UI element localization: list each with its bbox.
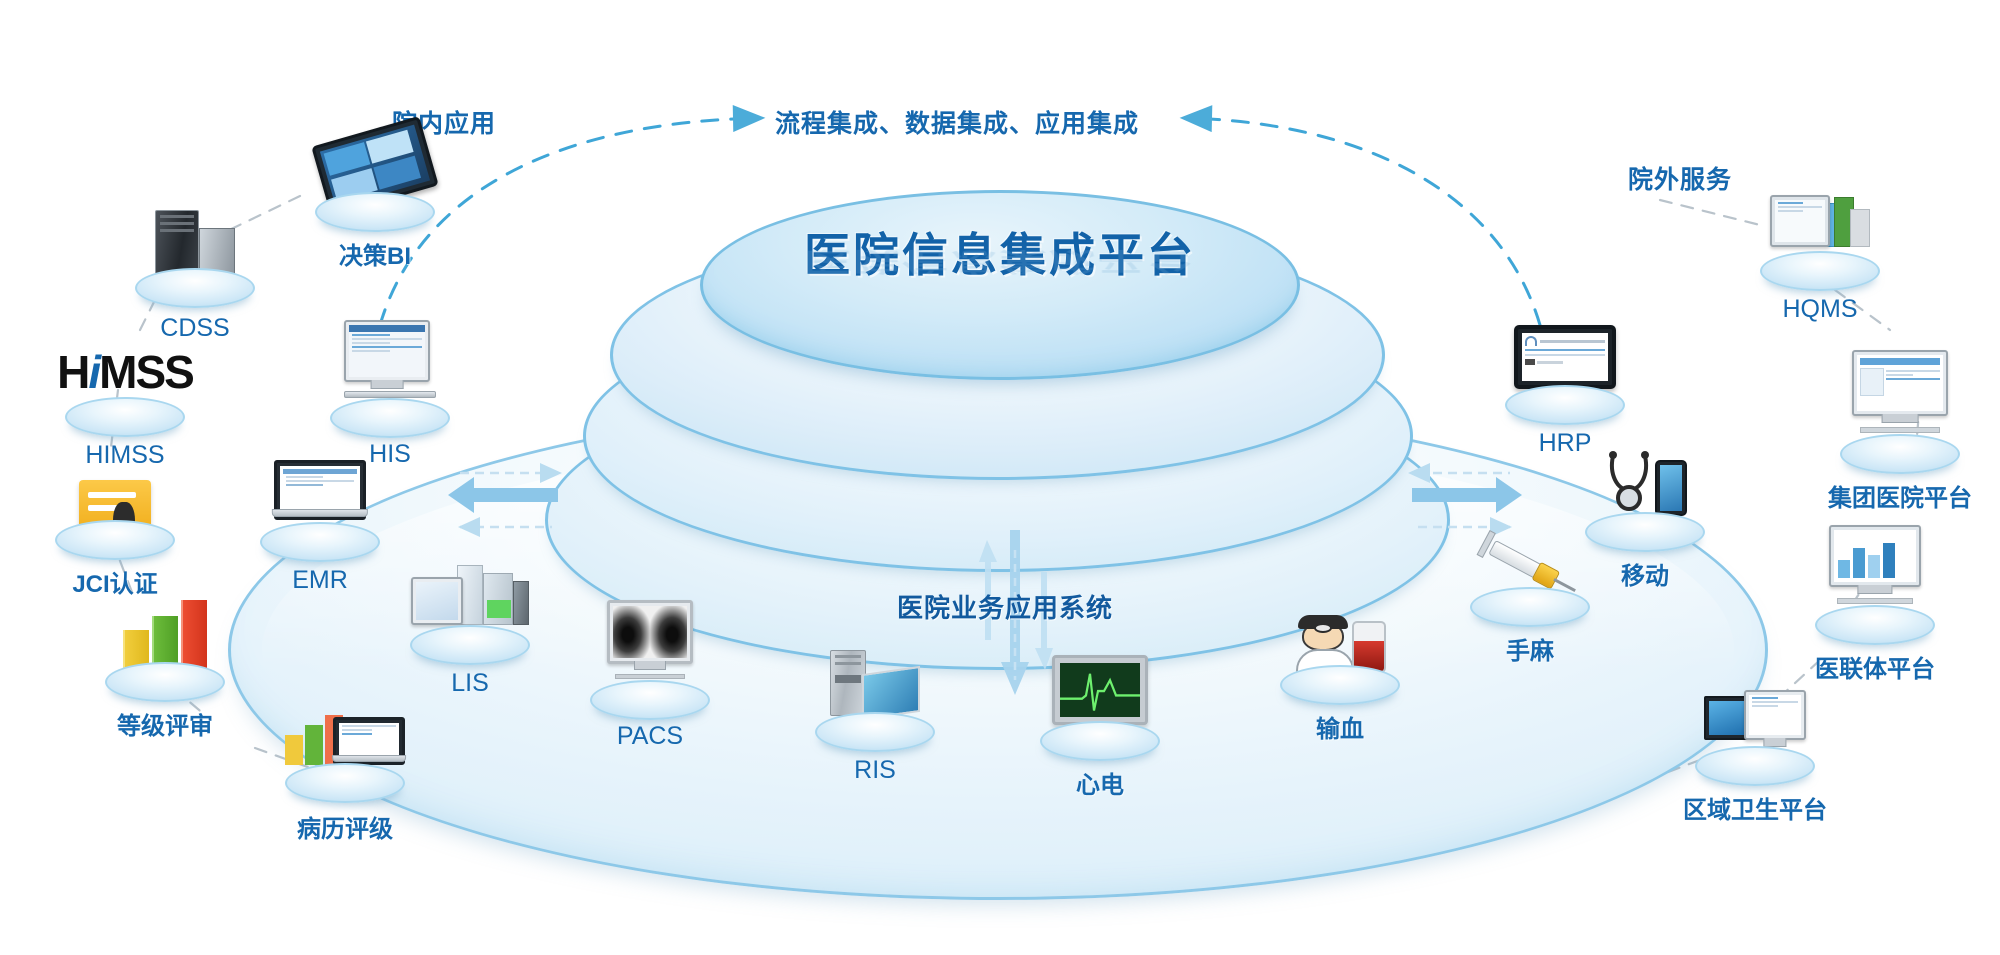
pedestal: [260, 522, 380, 562]
node-label-hqms: HQMS: [1783, 295, 1858, 324]
node-blood-transfusion[interactable]: 输血: [1250, 605, 1430, 755]
tower-monitor-icon: [830, 650, 920, 716]
node-label-mobile: 移动: [1621, 556, 1669, 591]
node-label-alliance-platform: 医联体平台: [1815, 649, 1935, 684]
node-ecg[interactable]: 心电: [1015, 655, 1185, 805]
node-group-hospital-platform[interactable]: 集团医院平台: [1805, 350, 1995, 500]
node-grade-review[interactable]: 等级评审: [70, 600, 260, 750]
left-exchange-arrows: [440, 455, 570, 565]
node-label-record-rating: 病历评级: [297, 809, 393, 844]
page-title: 医院信息集成平台: [703, 219, 1297, 285]
callout-external-services: 院外服务: [1628, 160, 1732, 196]
node-label-decision-bi: 决策BI: [339, 236, 411, 271]
node-label-grade-review: 等级评审: [117, 706, 213, 741]
node-label-group-platform: 集团医院平台: [1828, 478, 1972, 513]
node-label-jci: JCI认证: [72, 564, 157, 599]
pedestal: [65, 397, 185, 437]
pedestal: [285, 763, 405, 803]
desktop-dual-icon: [1704, 690, 1806, 740]
pedestal: [410, 625, 530, 665]
node-lis[interactable]: LIS: [385, 565, 555, 715]
platform-top-disc[interactable]: 医院信息集成平台 医院信息集成平台: [700, 190, 1300, 380]
node-jci[interactable]: JCI认证: [30, 480, 200, 620]
node-mobile[interactable]: 移动: [1555, 450, 1735, 600]
node-regional-health-platform[interactable]: 区域卫生平台: [1655, 690, 1855, 840]
node-hqms[interactable]: HQMS: [1730, 195, 1910, 345]
pedestal: [1815, 605, 1935, 645]
himss-wordmark: HiMSS: [57, 349, 193, 395]
callout-integration: 流程集成、数据集成、应用集成: [775, 104, 1139, 140]
node-cdss[interactable]: CDSS: [110, 210, 280, 345]
himss-logo-icon: HiMSS: [57, 349, 193, 395]
pedestal: [815, 712, 935, 752]
desktop-monitor-icon: [344, 320, 436, 398]
tablet-report-icon: [1514, 325, 1616, 389]
ecg-monitor-icon: [1052, 655, 1148, 725]
node-his[interactable]: HIS: [305, 320, 475, 470]
pedestal: [1040, 721, 1160, 761]
pedestal: [55, 520, 175, 560]
pedestal: [315, 192, 435, 232]
node-label-anesthesia: 手麻: [1506, 631, 1554, 666]
node-label-regional-platform: 区域卫生平台: [1683, 790, 1827, 825]
node-ris[interactable]: RIS: [790, 650, 960, 800]
xray-monitor-icon: [607, 600, 693, 679]
pedestal: [1280, 665, 1400, 705]
node-medical-record-rating[interactable]: 病历评级: [245, 715, 445, 865]
diagram-canvas: 流程集成、数据集成、应用集成 院内应用 院外服务 基础数据中心 临床数据中心 运…: [0, 0, 2000, 955]
node-emr[interactable]: EMR: [230, 460, 410, 610]
chart-laptop-icon: [285, 715, 405, 765]
pedestal: [1505, 385, 1625, 425]
stethoscope-phone-icon: [1603, 450, 1687, 516]
pedestal: [135, 268, 255, 308]
desktop-chart-icon: [1829, 525, 1921, 604]
pedestal: [330, 398, 450, 438]
server-rack-icon: [155, 210, 235, 276]
lab-analyzer-icon: [411, 565, 529, 625]
laptop-icon: [274, 460, 366, 520]
pedestal: [1695, 746, 1815, 786]
node-label-pacs: PACS: [617, 722, 683, 751]
node-label-lis: LIS: [451, 669, 489, 698]
pedestal: [1840, 434, 1960, 474]
blood-bag-doctor-icon: [1294, 605, 1386, 673]
node-himss[interactable]: HiMSS HIMSS: [30, 345, 220, 485]
node-decision-bi[interactable]: 决策BI: [285, 130, 465, 260]
pedestal: [1585, 512, 1705, 552]
node-label-blood: 输血: [1316, 709, 1364, 744]
pedestal: [590, 680, 710, 720]
node-label-himss: HIMSS: [85, 441, 164, 470]
node-label-cdss: CDSS: [160, 314, 229, 343]
node-label-ris: RIS: [854, 756, 896, 785]
desktop-form-icon: [1852, 350, 1948, 433]
node-label-emr: EMR: [292, 566, 348, 595]
business-systems-label: 医院业务应用系统: [835, 588, 1175, 625]
node-pacs[interactable]: PACS: [565, 600, 735, 750]
documents-monitor-icon: [1770, 195, 1870, 247]
pedestal: [105, 662, 225, 702]
node-medical-alliance-platform[interactable]: 医联体平台: [1780, 525, 1970, 675]
pedestal: [1760, 251, 1880, 291]
node-label-ecg: 心电: [1076, 765, 1124, 800]
